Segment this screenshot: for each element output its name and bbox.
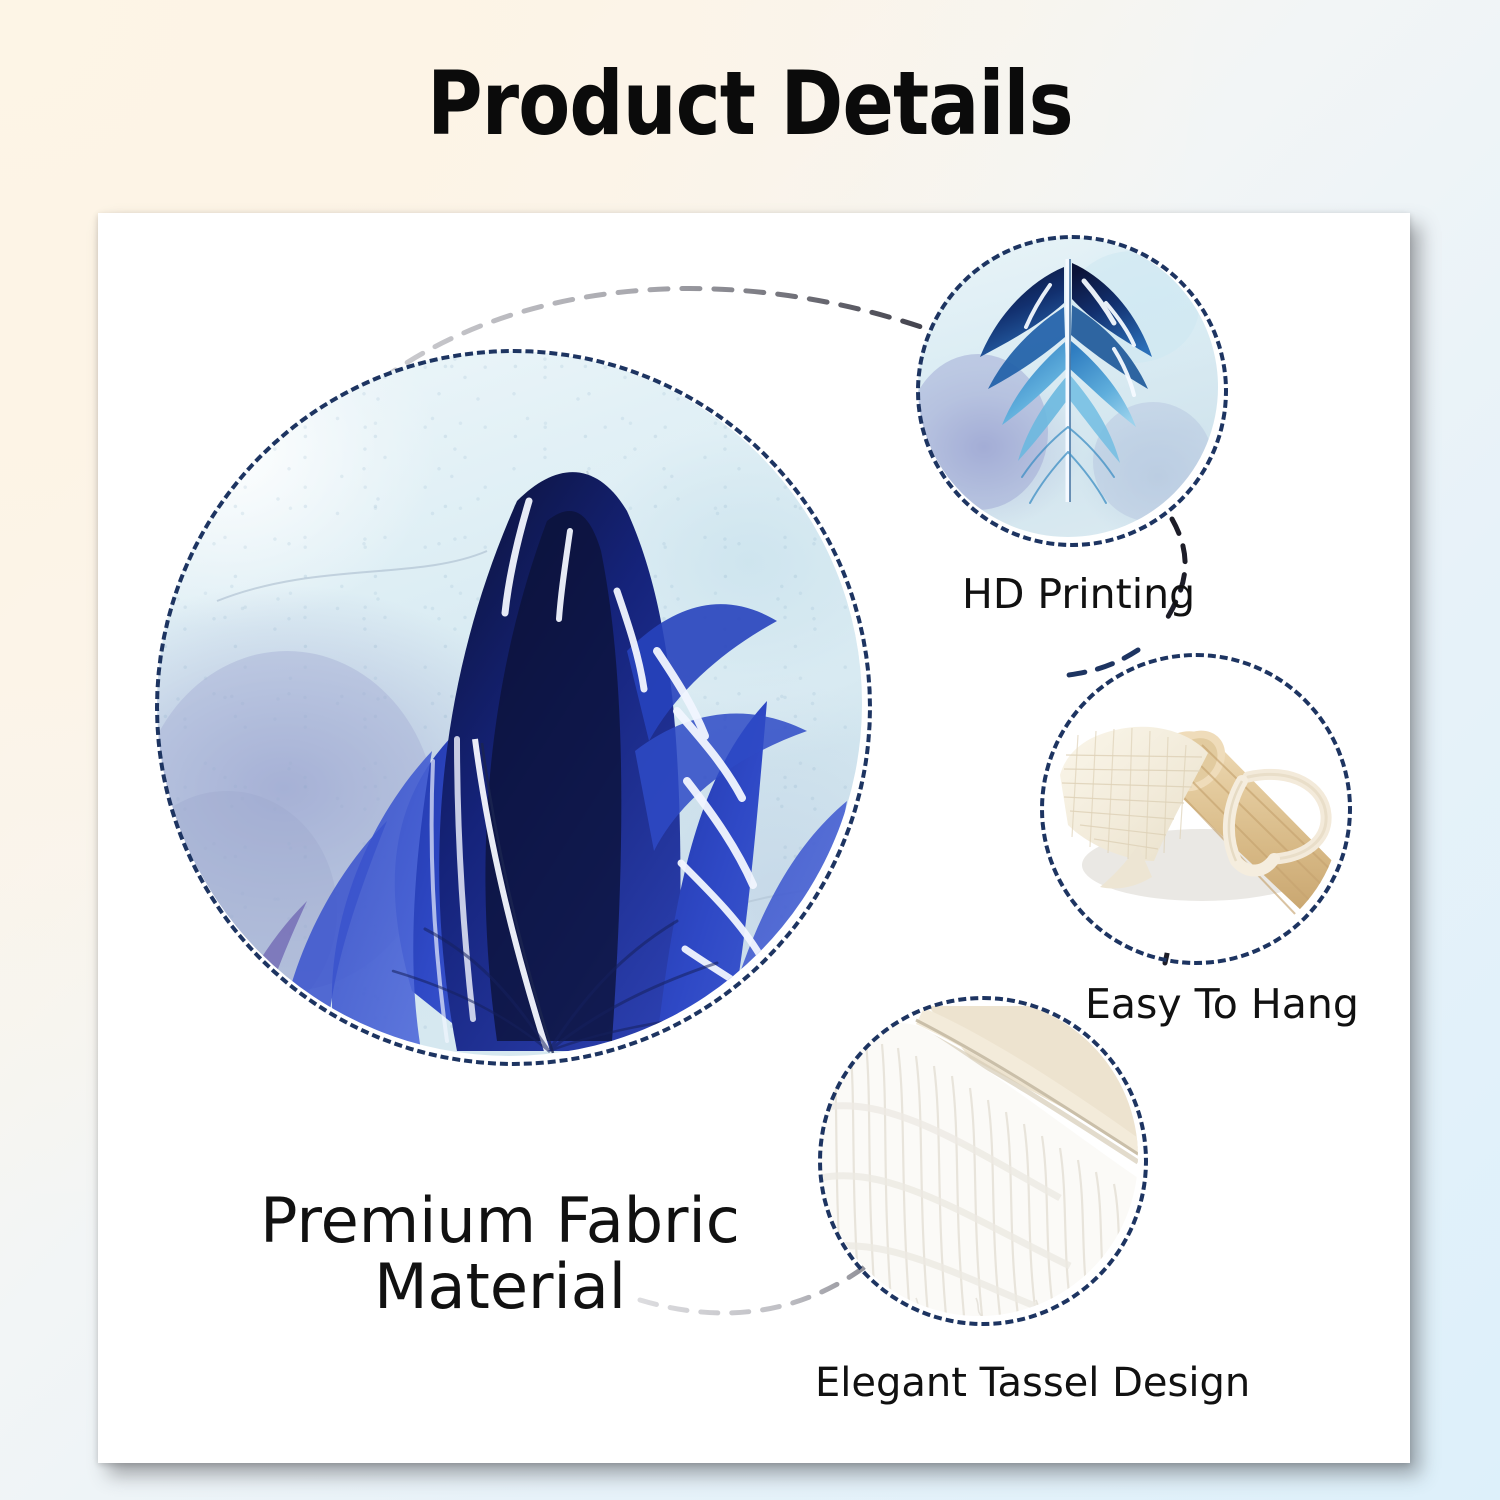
page-title: Product Details	[105, 52, 1395, 155]
dowel-and-canvas-art	[1042, 655, 1342, 955]
easy-to-hang-image	[1042, 655, 1342, 955]
premium-fabric-detail-image	[157, 351, 862, 1056]
easy-to-hang-label: Easy To Hang	[1085, 980, 1359, 1028]
hd-feather-art	[918, 237, 1218, 537]
tassel-label: Elegant Tassel Design	[815, 1360, 1250, 1406]
hd-printing-image	[918, 237, 1218, 537]
premium-fabric-label-line1: Premium Fabric	[190, 1188, 810, 1254]
infographic-stage: Product Details	[0, 0, 1500, 1500]
premium-fabric-label: Premium Fabric Material	[190, 1188, 810, 1319]
tassel-design-image	[820, 998, 1138, 1316]
hd-printing-label: HD Printing	[962, 570, 1195, 618]
premium-fabric-label-line2: Material	[190, 1254, 810, 1320]
tassel-fringe-art	[820, 998, 1138, 1316]
feather-macro-art	[157, 351, 862, 1056]
